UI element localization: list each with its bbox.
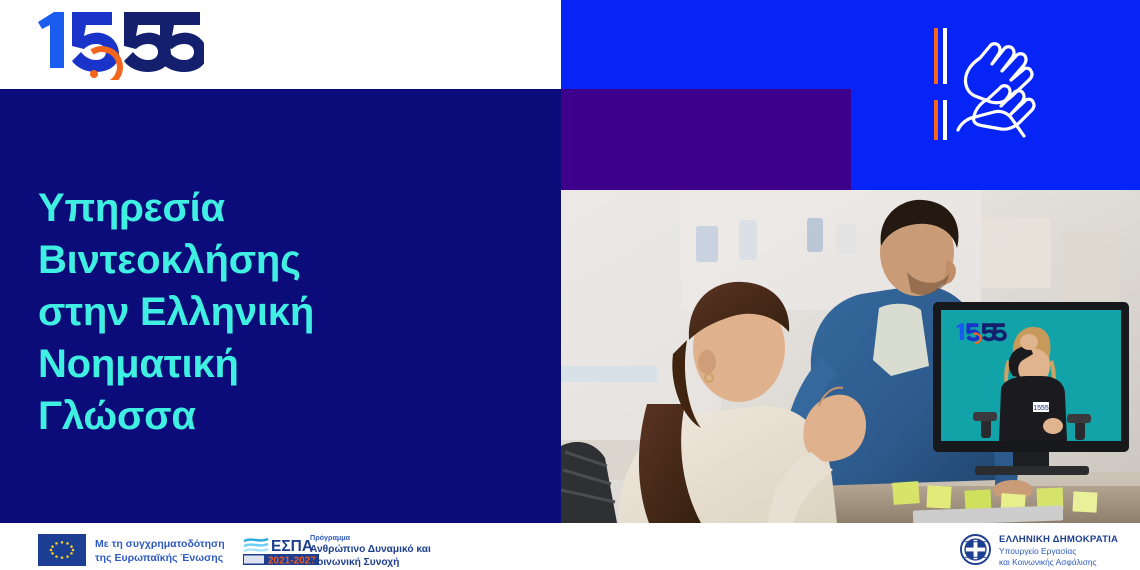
- government-line-3: και Κοινωνικής Ασφάλισης: [999, 557, 1118, 568]
- promotional-banner: Υπηρεσία Βιντεοκλήσης στην Ελληνική Νοημ…: [0, 0, 1140, 570]
- programme-line-1: Ανθρώπινο Δυναμικό και: [310, 543, 431, 556]
- headline-line-5: Γλώσσα: [38, 390, 508, 442]
- eu-cofinancing-block: Με τη συγχρηματοδότηση της Ευρωπαϊκής Έν…: [38, 534, 320, 570]
- orange-bar-lower: [934, 100, 938, 140]
- headline-line-2: Βιντεοκλήσης: [38, 234, 508, 286]
- white-bar-upper: [943, 28, 947, 84]
- programme-block: Πρόγραμμα Ανθρώπινο Δυναμικό και Κοινωνι…: [310, 534, 431, 569]
- government-line-1: ΕΛΛΗΝΙΚΗ ΔΗΜΟΚΡΑΤΙΑ: [999, 534, 1118, 546]
- eu-text-line-1: Με τη συγχρηματοδότηση: [95, 538, 225, 552]
- espa-years: 2021-2027: [268, 556, 316, 567]
- sign-language-hands-icon: [928, 24, 1052, 144]
- headline-line-3: στην Ελληνική: [38, 286, 508, 338]
- eu-text-line-2: της Ευρωπαϊκής Ένωσης: [95, 552, 225, 566]
- espa-name: ΕΣΠΑ: [271, 538, 313, 555]
- programme-line-2: Κοινωνική Συνοχή: [310, 556, 431, 569]
- purple-block: [561, 89, 851, 190]
- espa-logo: ΕΣΠΑ 2021-2027: [242, 534, 320, 570]
- european-union-flag-icon: [38, 534, 86, 566]
- headline-line-1: Υπηρεσία: [38, 182, 508, 234]
- svg-text:1555: 1555: [1033, 405, 1049, 412]
- eu-cofinancing-text: Με τη συγχρηματοδότηση της Ευρωπαϊκής Έν…: [95, 534, 225, 565]
- government-line-2: Υπουργείο Εργασίας: [999, 546, 1118, 557]
- programme-label: Πρόγραμμα: [310, 534, 431, 543]
- headline-line-4: Νοηματική: [38, 338, 508, 390]
- hero-photo: 1555: [561, 190, 1140, 523]
- footer: Με τη συγχρηματοδότηση της Ευρωπαϊκής Έν…: [0, 523, 1140, 570]
- hellenic-republic-emblem-icon: [960, 534, 991, 565]
- white-bar-lower: [943, 100, 947, 140]
- headline: Υπηρεσία Βιντεοκλήσης στην Ελληνική Νοημ…: [38, 182, 508, 442]
- government-text: ΕΛΛΗΝΙΚΗ ΔΗΜΟΚΡΑΤΙΑ Υπουργείο Εργασίας κ…: [999, 534, 1118, 568]
- government-block: ΕΛΛΗΝΙΚΗ ΔΗΜΟΚΡΑΤΙΑ Υπουργείο Εργασίας κ…: [960, 534, 1118, 568]
- 1555-logo[interactable]: [34, 8, 204, 80]
- orange-bar-upper: [934, 28, 938, 84]
